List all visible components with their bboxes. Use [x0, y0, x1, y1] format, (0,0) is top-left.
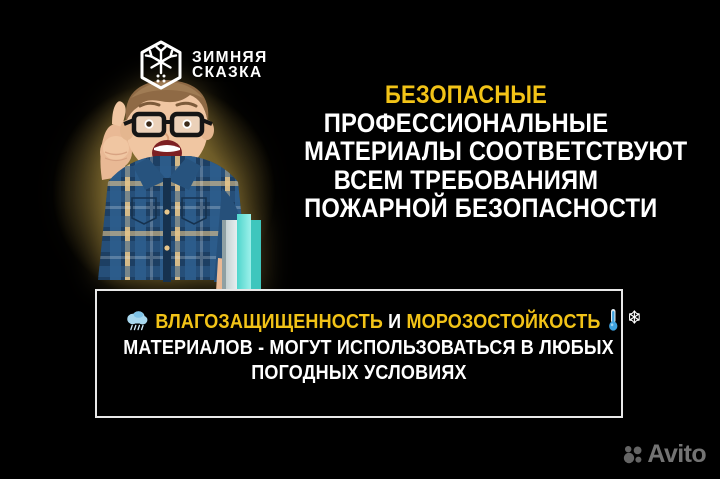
advertisement-banner: ЗИМНЯЯ СКАЗКА БЕЗОПАСНЫЕ ПРОФЕССИОНАЛЬНЫ… — [0, 0, 720, 479]
hexagon-snowflake-icon — [138, 40, 184, 90]
headline-line-3: МАТЕРИАЛЫ СООТВЕТСТВУЮТ — [304, 137, 628, 166]
avito-watermark: Avito — [623, 442, 706, 467]
avito-dots-icon — [623, 445, 643, 465]
brand-line-2: СКАЗКА — [192, 66, 268, 81]
brand-logo: ЗИМНЯЯ СКАЗКА — [138, 40, 268, 90]
features-panel: ВЛАГОЗАЩИЩЕННОСТЬ И МОРОЗОСТОЙКОСТЬ — [95, 289, 623, 418]
rain-cloud-icon — [125, 310, 148, 332]
boy-with-glasses-photo — [36, 62, 296, 294]
feature-frost-label: МОРОЗОСТОЙКОСТЬ — [406, 311, 600, 333]
avito-label: Avito — [647, 442, 706, 467]
headline-line-4: ВСЕМ ТРЕБОВАНИЯМ — [304, 166, 628, 195]
panel-line-1: ВЛАГОЗАЩИЩЕННОСТЬ И МОРОЗОСТОЙКОСТЬ — [123, 308, 595, 336]
feature-moisture-label: ВЛАГОЗАЩИЩЕННОСТЬ — [155, 311, 383, 333]
panel-line-2: МАТЕРИАЛОВ - МОГУТ ИСПОЛЬЗОВАТЬСЯ В ЛЮБЫ… — [123, 336, 595, 362]
thermometer-icon — [607, 308, 619, 332]
headline-line-2: ПРОФЕССИОНАЛЬНЫЕ — [304, 109, 628, 138]
feature-conjunction: И — [388, 311, 401, 333]
headline-line-5: ПОЖАРНОЙ БЕЗОПАСНОСТИ — [304, 194, 628, 223]
headline-block: БЕЗОПАСНЫЕ ПРОФЕССИОНАЛЬНЫЕ МАТЕРИАЛЫ СО… — [282, 82, 650, 223]
brand-name: ЗИМНЯЯ СКАЗКА — [192, 49, 268, 81]
headline-line-1: БЕЗОПАСНЫЕ — [304, 82, 628, 109]
panel-line-3: ПОГОДНЫХ УСЛОВИЯХ — [123, 361, 595, 387]
snowflake-icon — [628, 310, 641, 324]
